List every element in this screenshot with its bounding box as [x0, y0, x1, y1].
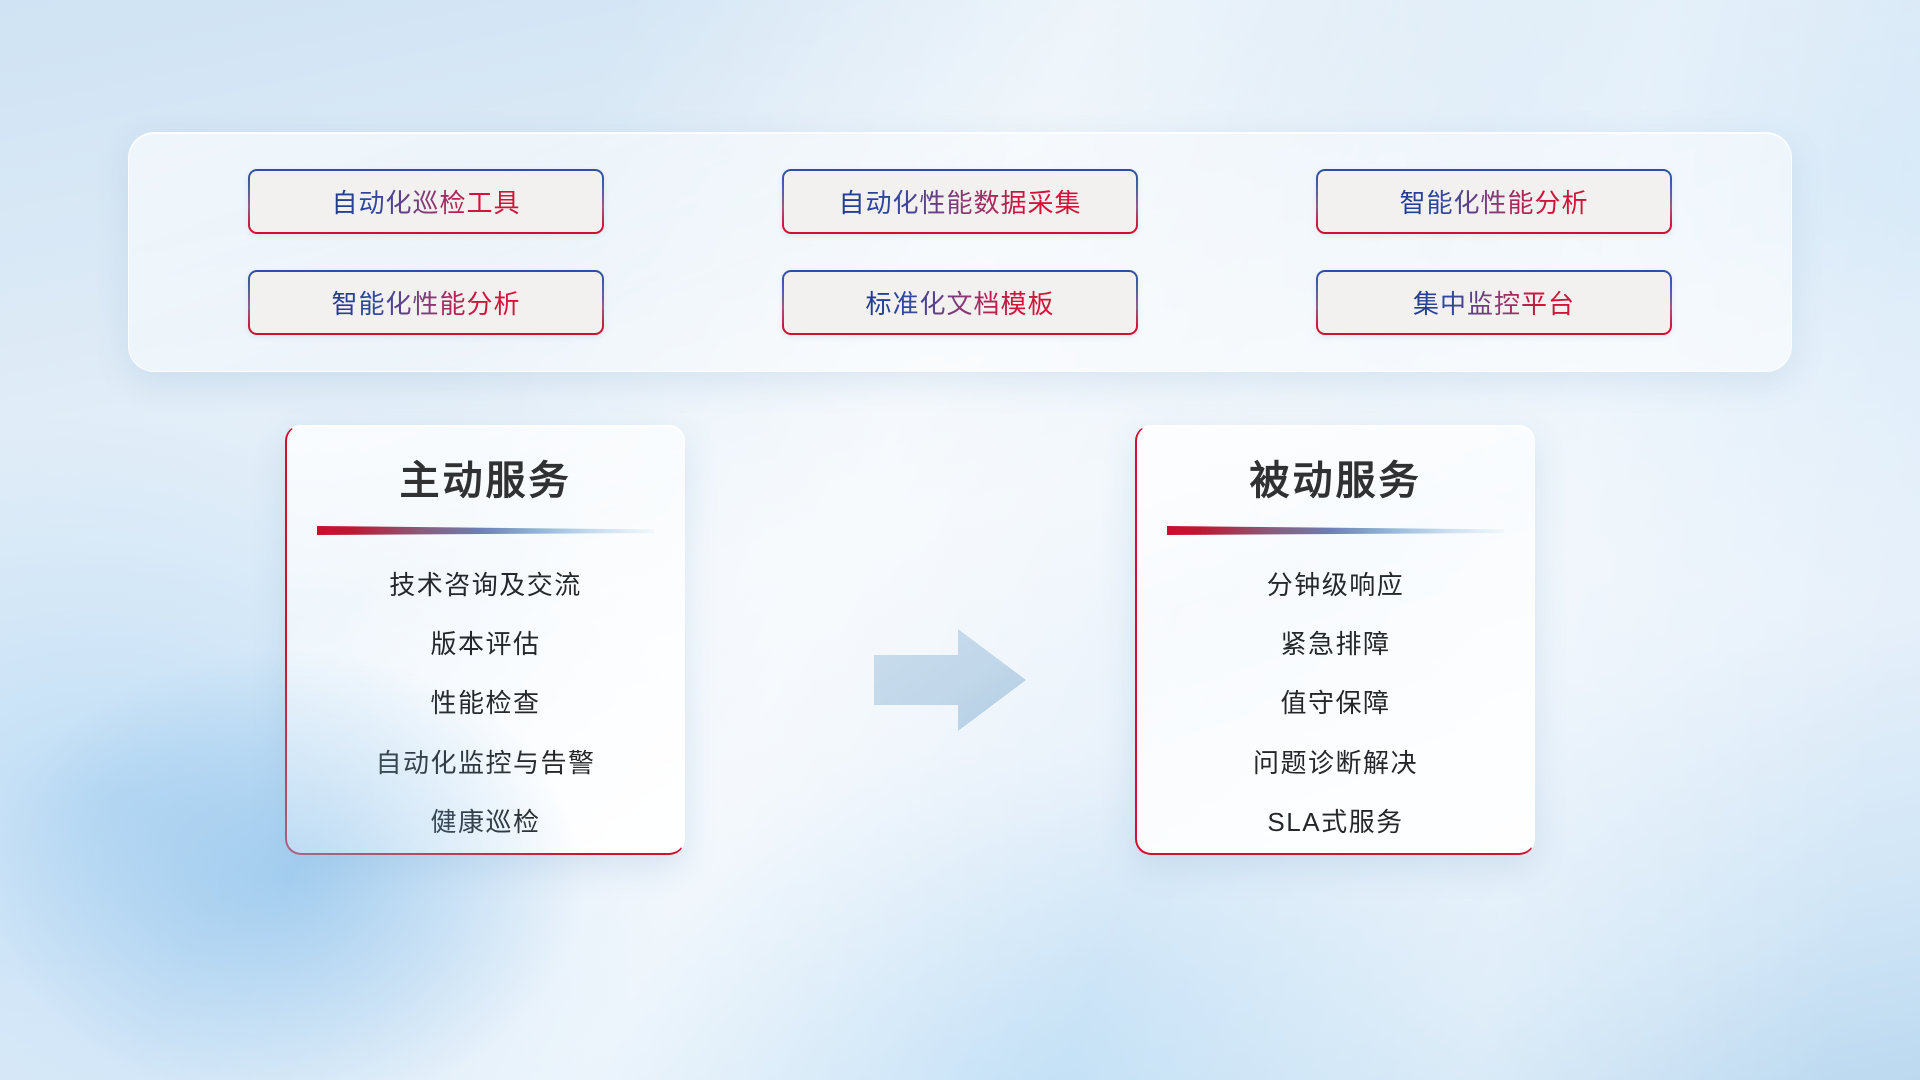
- list-item: 自动化监控与告警: [309, 734, 662, 793]
- list-item: 紧急排障: [1159, 615, 1512, 674]
- capability-pill-1[interactable]: 自动化巡检工具: [248, 169, 604, 234]
- capability-pill-4-label: 智能化性能分析: [331, 284, 520, 321]
- proactive-title-divider-bar: [317, 526, 654, 535]
- capability-pill-4-inner: 智能化性能分析: [250, 272, 602, 333]
- capability-pill-3-label: 智能化性能分析: [1399, 183, 1588, 220]
- capability-pill-4[interactable]: 智能化性能分析: [248, 270, 604, 335]
- capability-pill-6[interactable]: 集中监控平台: [1316, 270, 1672, 335]
- list-item: 值守保障: [1159, 674, 1512, 733]
- service-card-reactive[interactable]: 被动服务 分钟级响应 紧急排障 值守保障 问题诊断解决 SLA式服务: [1135, 425, 1535, 855]
- capabilities-panel: 自动化巡检工具 自动化性能数据采集 智能化性能分析 智能化性能分析 标准化文档模…: [128, 132, 1792, 372]
- reactive-service-list: 分钟级响应 紧急排障 值守保障 问题诊断解决 SLA式服务: [1159, 556, 1512, 852]
- reactive-title-divider-bar: [1167, 526, 1504, 535]
- capability-pill-5-label: 标准化文档模板: [865, 284, 1054, 321]
- capability-pill-2[interactable]: 自动化性能数据采集: [782, 169, 1138, 234]
- list-item: 分钟级响应: [1159, 556, 1512, 615]
- capability-pill-1-label: 自动化巡检工具: [331, 183, 520, 220]
- slide-canvas: 自动化巡检工具 自动化性能数据采集 智能化性能分析 智能化性能分析 标准化文档模…: [0, 0, 1920, 1080]
- list-item: 技术咨询及交流: [309, 556, 662, 615]
- list-item: 健康巡检: [309, 793, 662, 852]
- proactive-service-list: 技术咨询及交流 版本评估 性能检查 自动化监控与告警 健康巡检: [309, 556, 662, 852]
- capability-pill-2-label: 自动化性能数据采集: [838, 183, 1081, 220]
- capability-pill-5[interactable]: 标准化文档模板: [782, 270, 1138, 335]
- service-card-proactive[interactable]: 主动服务 技术咨询及交流 版本评估 性能检查 自动化监控与告警 健康巡检: [285, 425, 685, 855]
- capability-pill-3-inner: 智能化性能分析: [1318, 171, 1670, 232]
- list-item: SLA式服务: [1159, 793, 1512, 852]
- capability-pill-6-label: 集中监控平台: [1413, 284, 1575, 321]
- right-arrow-icon: [870, 625, 1030, 735]
- capability-pill-3[interactable]: 智能化性能分析: [1316, 169, 1672, 234]
- list-item: 性能检查: [309, 674, 662, 733]
- capability-pill-1-inner: 自动化巡检工具: [250, 171, 602, 232]
- capability-pill-5-inner: 标准化文档模板: [784, 272, 1136, 333]
- list-item: 版本评估: [309, 615, 662, 674]
- capability-pill-2-inner: 自动化性能数据采集: [784, 171, 1136, 232]
- list-item: 问题诊断解决: [1159, 734, 1512, 793]
- service-card-reactive-title: 被动服务: [1159, 458, 1512, 504]
- capability-pill-6-inner: 集中监控平台: [1318, 272, 1670, 333]
- service-card-proactive-title: 主动服务: [309, 458, 662, 504]
